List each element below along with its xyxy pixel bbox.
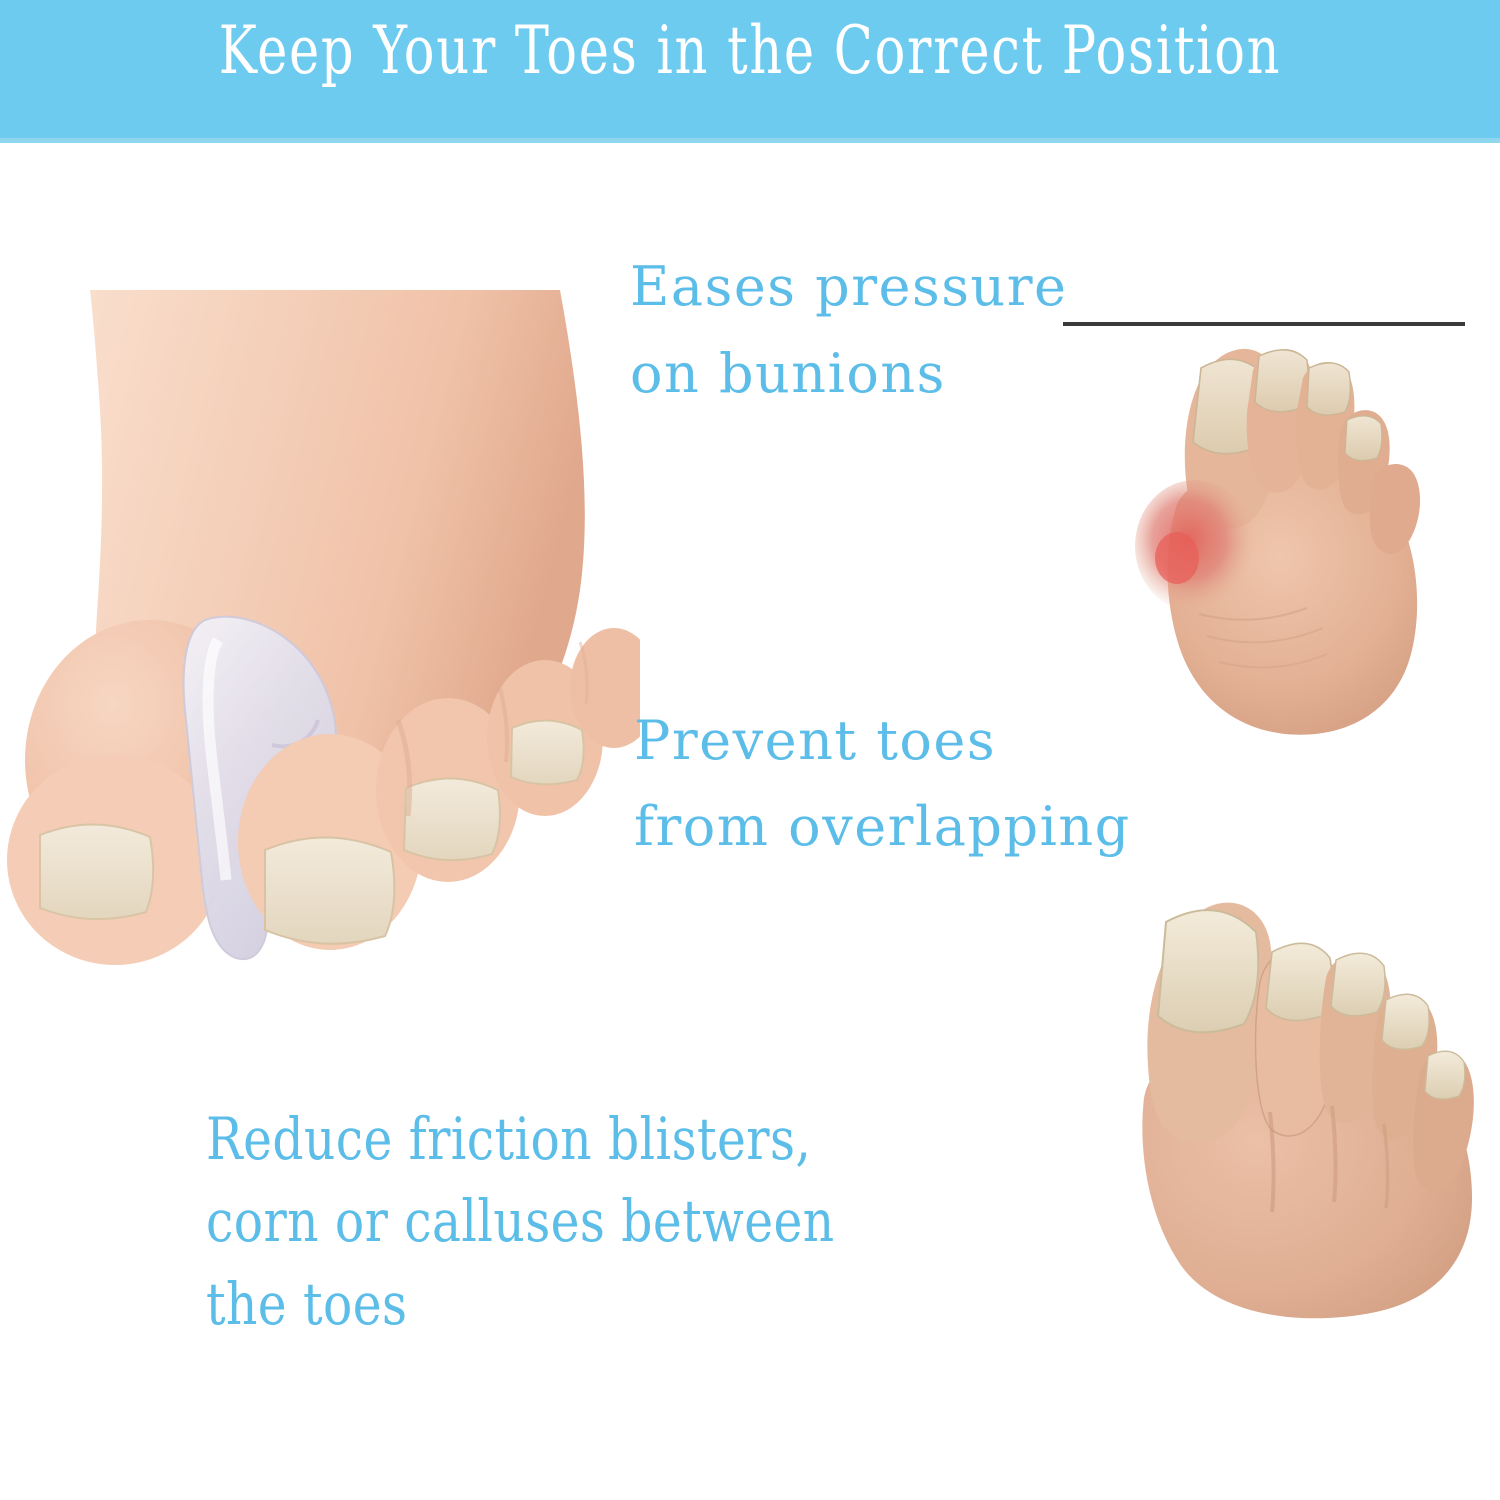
bunion-third-toe-nail xyxy=(1307,363,1350,415)
overlap-foot-illustration xyxy=(1128,898,1476,1324)
third-toe-nail xyxy=(404,778,500,860)
feature-text-eases-pressure: Eases pressure on bunions xyxy=(630,243,1067,418)
main-foot-with-separator-photo xyxy=(0,290,640,980)
feature-text-reduce-friction: Reduce friction blisters, corn or callus… xyxy=(206,1098,835,1345)
bunion-fifth-toe xyxy=(1370,464,1420,554)
main-foot-illustration xyxy=(0,290,640,980)
overlap-fifth-toe-nail xyxy=(1425,1051,1465,1099)
page-title: Keep Your Toes in the Correct Position xyxy=(105,18,1395,84)
second-toe-nail xyxy=(265,837,394,943)
overlap-big-toe-nail xyxy=(1158,910,1258,1032)
overlap-fourth-toe-nail xyxy=(1382,994,1429,1049)
overlap-third-toe-nail xyxy=(1331,953,1385,1016)
overlapping-toes-photo xyxy=(1128,898,1476,1324)
bunion-photo-divider-line xyxy=(1063,322,1465,326)
infographic-page: Keep Your Toes in the Correct Position xyxy=(0,0,1500,1500)
header-banner-bottom-edge xyxy=(0,138,1500,143)
fourth-toe-nail xyxy=(511,720,584,784)
feature-text-prevent-overlapping: Prevent toes from overlapping xyxy=(634,698,1131,871)
big-toe-nail xyxy=(40,824,153,919)
bunion-foot-photo xyxy=(1135,336,1435,740)
bunion-hotspot xyxy=(1155,532,1199,584)
bunion-fourth-toe-nail xyxy=(1345,416,1382,461)
bunion-foot-illustration xyxy=(1135,336,1435,740)
